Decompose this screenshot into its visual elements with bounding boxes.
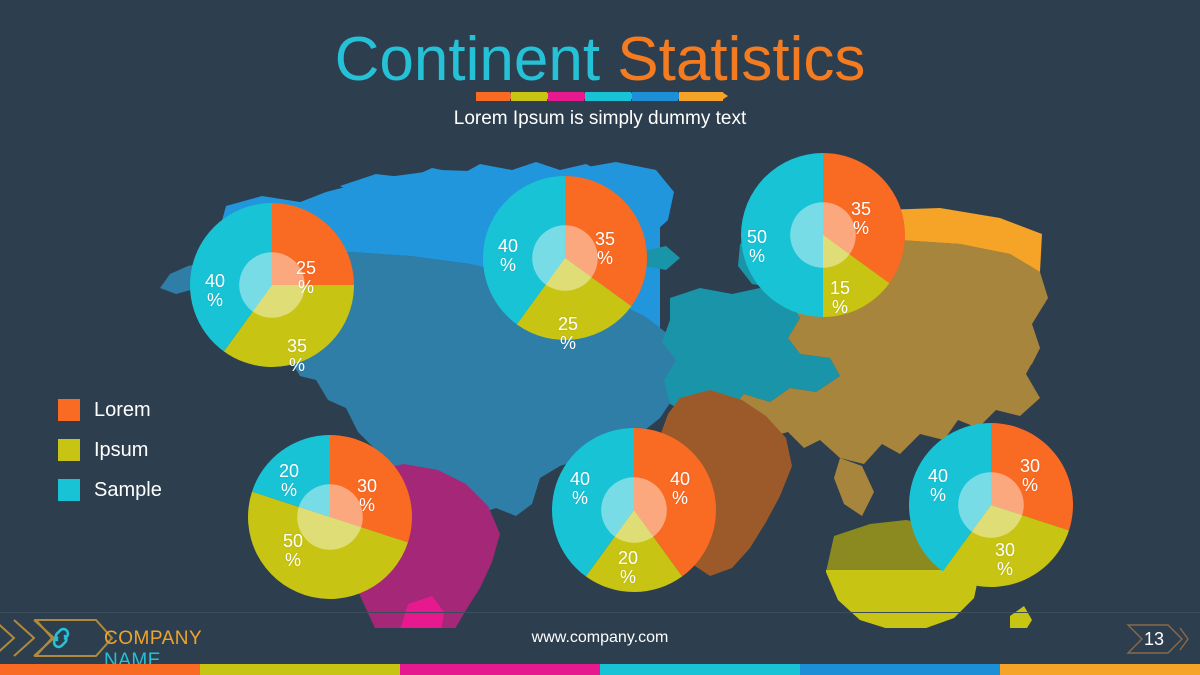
legend-swatch-sample [58,479,80,501]
pie-label-australia-sample: 40% [918,467,958,505]
legend-swatch-lorem [58,399,80,421]
pie-label-asia-sample: 50% [737,228,777,266]
pie-label-europe-lorem: 35% [585,230,625,268]
page-subtitle: Lorem Ipsum is simply dummy text [0,108,1200,130]
divider-segment-4 [585,92,631,101]
legend-swatch-ipsum [58,439,80,461]
slide-canvas: Continent Statistics Lorem Ipsum is simp… [0,0,1200,675]
pie-label-africa-lorem: 40% [660,470,700,508]
pie-label-south-america-sample: 20% [269,462,309,500]
divider-segment-3 [548,92,584,101]
title-divider [476,90,724,102]
pie-chart-south-america[interactable] [248,435,412,599]
pie-label-north-america-lorem: 25% [286,259,326,297]
legend-item-ipsum[interactable]: Ipsum [58,430,238,470]
legend-label-ipsum: Ipsum [94,439,148,462]
footer-divider [0,612,1200,613]
pie-label-africa-sample: 40% [560,470,600,508]
pie-label-south-america-lorem: 30% [347,477,387,515]
divider-segment-1 [476,92,510,101]
legend-item-lorem[interactable]: Lorem [58,390,238,430]
bottom-bar-segment-4 [600,664,800,675]
page-title: Continent Statistics [0,24,1200,96]
legend-label-lorem: Lorem [94,399,151,422]
map-region-india [834,458,874,516]
bottom-color-bar [0,664,1200,675]
pie-label-europe-ipsum: 25% [548,315,588,353]
pie-label-europe-sample: 40% [488,237,528,275]
page-title-part-a: Continent [335,25,600,94]
pie-label-north-america-sample: 40% [195,272,235,310]
footer-url[interactable]: www.company.com [0,614,1200,662]
bottom-bar-segment-2 [200,664,400,675]
bottom-bar-segment-3 [400,664,600,675]
bottom-bar-segment-1 [0,664,200,675]
divider-segment-2 [511,92,547,101]
chart-legend: Lorem Ipsum Sample [58,390,238,510]
bottom-bar-segment-5 [800,664,1000,675]
divider-segment-5 [632,92,678,101]
title-block: Continent Statistics [0,24,1200,96]
pie-center-overlay-africa [601,477,667,543]
pie-label-north-america-ipsum: 35% [277,337,317,375]
pie-label-asia-ipsum: 15% [820,279,860,317]
legend-item-sample[interactable]: Sample [58,470,238,510]
pie-label-south-america-ipsum: 50% [273,532,313,570]
page-number-badge: 13 [1118,622,1190,656]
pie-label-australia-lorem: 30% [1010,457,1050,495]
divider-segment-6 [679,92,723,101]
page-title-part-b: Statistics [600,25,865,94]
footer: COMPANY NAME www.company.com 13 [0,614,1200,662]
pie-label-asia-lorem: 35% [841,200,881,238]
bottom-bar-segment-6 [1000,664,1200,675]
pie-label-africa-ipsum: 20% [608,549,648,587]
pie-label-australia-ipsum: 30% [985,541,1025,579]
legend-label-sample: Sample [94,479,162,502]
page-number: 13 [1118,622,1190,656]
